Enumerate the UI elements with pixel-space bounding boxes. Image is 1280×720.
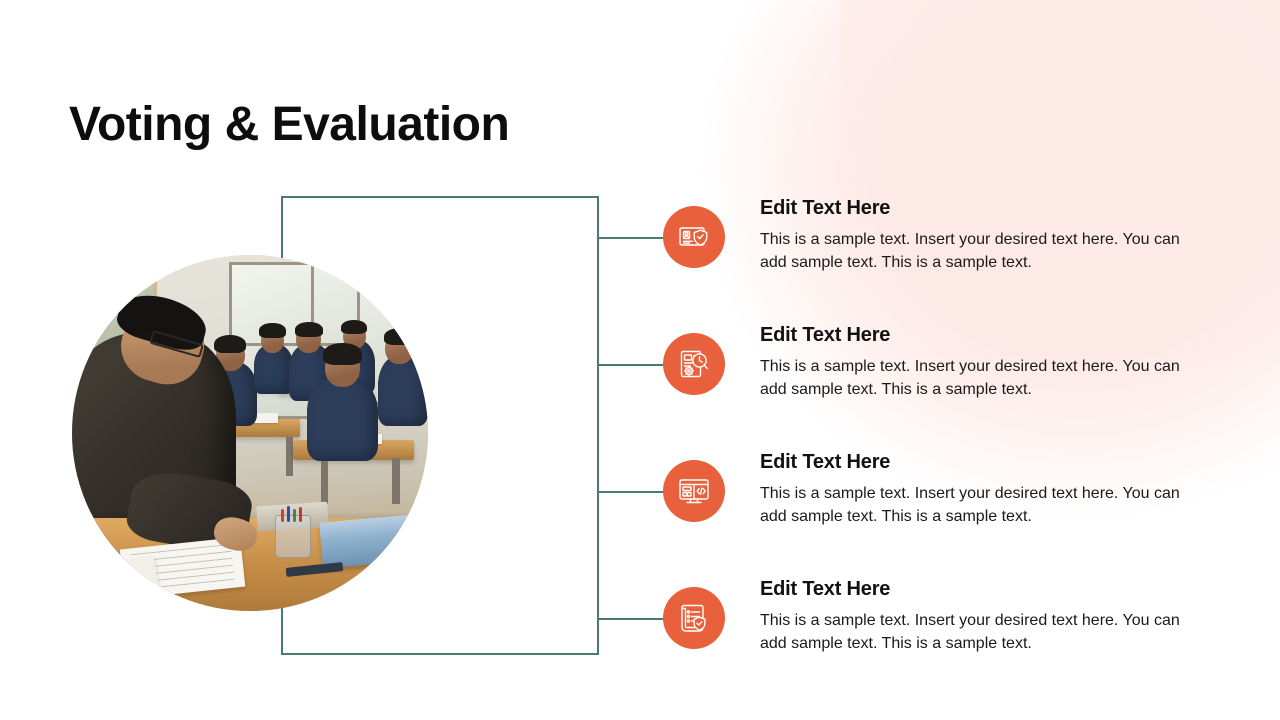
desk-leg-4 xyxy=(392,458,399,504)
student-4-hair xyxy=(341,320,367,334)
monitor-code-dashboard-icon xyxy=(677,474,711,508)
background-gradient-wash-secondary xyxy=(840,0,1280,360)
student-2-hair xyxy=(259,323,285,337)
icon-badge-4[interactable] xyxy=(663,587,725,649)
icon-badge-1[interactable] xyxy=(663,206,725,268)
connector-line-1 xyxy=(599,237,665,239)
slide-canvas: Voting & Evaluation xyxy=(0,0,1280,720)
text-block-3: Edit Text Here This is a sample text. In… xyxy=(760,451,1190,528)
block-title-3: Edit Text Here xyxy=(760,451,1190,474)
block-body-2: This is a sample text. Insert your desir… xyxy=(760,356,1190,401)
text-block-4: Edit Text Here This is a sample text. In… xyxy=(760,578,1190,655)
classroom-photo xyxy=(72,255,428,611)
pen-blue xyxy=(287,506,290,521)
block-title-4: Edit Text Here xyxy=(760,578,1190,601)
connector-line-2 xyxy=(599,364,665,366)
icon-badge-3[interactable] xyxy=(663,460,725,522)
student-1-hair xyxy=(214,335,246,353)
pen-red-2 xyxy=(299,507,302,522)
pen-cup xyxy=(275,515,311,558)
desk-leg-2 xyxy=(286,437,293,476)
block-body-1: This is a sample text. Insert your desir… xyxy=(760,229,1190,274)
student-5 xyxy=(307,376,378,461)
connector-line-3 xyxy=(599,491,665,493)
checklist-shield-check-icon xyxy=(677,601,711,635)
pen-green xyxy=(293,509,296,522)
student-3-hair xyxy=(295,322,323,337)
page-title: Voting & Evaluation xyxy=(69,99,509,152)
document-magnifier-gear-icon xyxy=(677,347,711,381)
pen-red xyxy=(281,509,284,523)
icon-badge-2[interactable] xyxy=(663,333,725,395)
block-title-1: Edit Text Here xyxy=(760,197,1190,220)
connector-line-4 xyxy=(599,618,665,620)
block-title-2: Edit Text Here xyxy=(760,324,1190,347)
text-block-2: Edit Text Here This is a sample text. In… xyxy=(760,324,1190,401)
block-body-3: This is a sample text. Insert your desir… xyxy=(760,483,1190,528)
desk-leg-3 xyxy=(321,458,328,504)
photo-content xyxy=(72,255,428,611)
student-5-hair xyxy=(323,343,363,364)
block-body-4: This is a sample text. Insert your desir… xyxy=(760,610,1190,655)
id-card-shield-check-icon xyxy=(677,220,711,254)
student-6-hair xyxy=(384,328,416,345)
student-6 xyxy=(378,355,428,426)
text-block-1: Edit Text Here This is a sample text. In… xyxy=(760,197,1190,274)
